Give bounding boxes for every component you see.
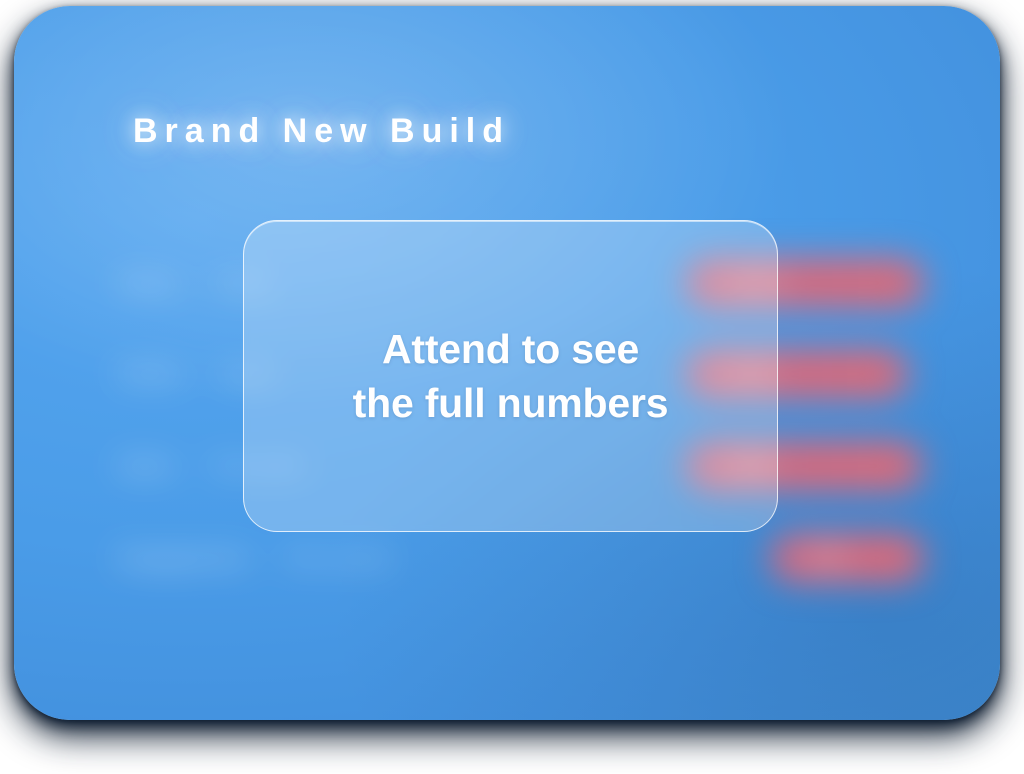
row-label: Sales <box>118 455 175 479</box>
row-value: 74% <box>806 547 846 570</box>
page-title: Brand New Build <box>133 112 510 151</box>
list-item: Engagement This month <box>118 534 391 584</box>
main-panel: Views Today 18,420 Clicks Today 6,135 Sa… <box>14 6 1000 720</box>
attend-overlay-card[interactable]: Attend to see the full numbers <box>243 220 778 532</box>
row-label: Views <box>118 272 180 296</box>
row-sublabel: This month <box>283 548 391 571</box>
overlay-message: Attend to see the full numbers <box>353 322 669 430</box>
row-value-bar: 74% <box>770 534 924 582</box>
overlay-message-line-1: Attend to see <box>353 322 669 376</box>
row-label: Engagement <box>118 547 249 571</box>
row-label: Clicks <box>118 363 183 387</box>
screenshot-stage: Views Today 18,420 Clicks Today 6,135 Sa… <box>0 0 1024 774</box>
overlay-message-line-2: the full numbers <box>353 376 669 430</box>
